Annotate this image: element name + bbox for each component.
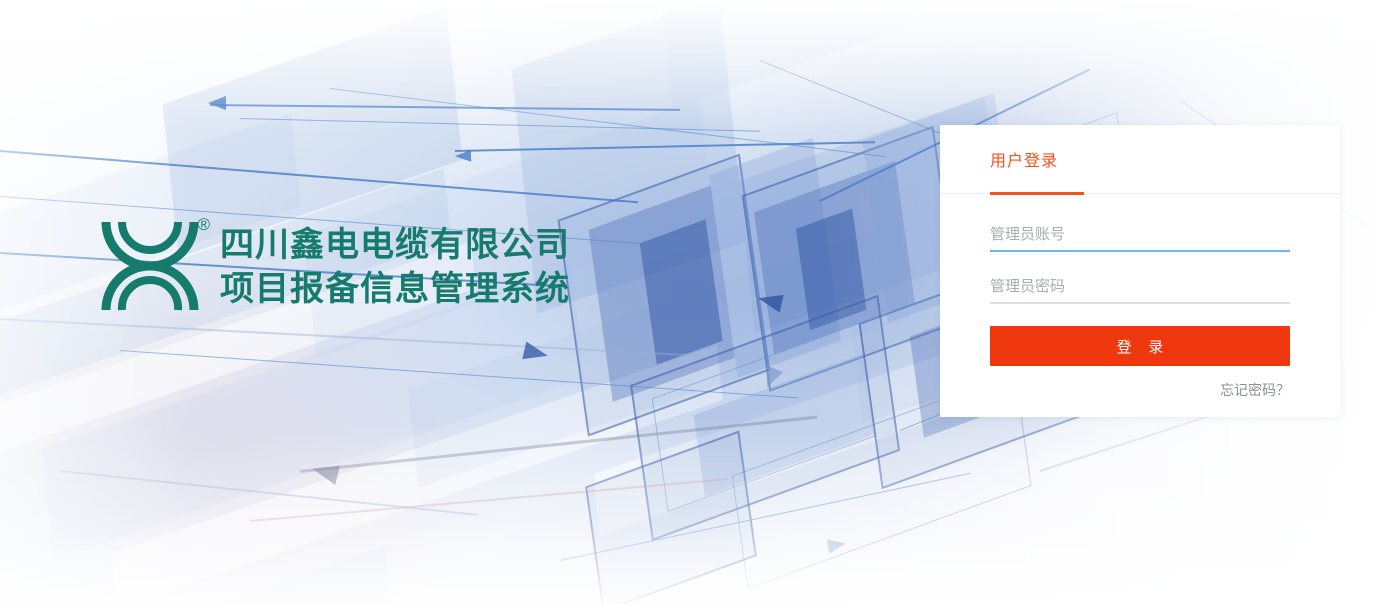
arrow-left-top xyxy=(208,96,226,110)
tab-active-underline xyxy=(990,192,1084,195)
brand-text-block: 四川鑫电电缆有限公司 项目报备信息管理系统 xyxy=(220,214,570,311)
login-card-footer: 忘记密码？ xyxy=(940,366,1340,400)
company-logo-icon: ® xyxy=(96,214,204,318)
password-field-wrapper xyxy=(990,274,1290,304)
arrow-left-bottom xyxy=(310,459,340,485)
username-input[interactable] xyxy=(990,222,1290,252)
arrow-right-mid xyxy=(522,342,549,365)
brand-block: ® 四川鑫电电缆有限公司 项目报备信息管理系统 xyxy=(96,214,570,318)
password-input[interactable] xyxy=(990,274,1290,304)
tab-user-login[interactable]: 用户登录 xyxy=(990,147,1058,171)
username-field-wrapper xyxy=(990,222,1290,252)
login-page: ® 四川鑫电电缆有限公司 项目报备信息管理系统 用户登录 登 录 忘记密码？ xyxy=(0,0,1375,604)
system-name: 项目报备信息管理系统 xyxy=(220,268,570,312)
password-underline xyxy=(990,302,1290,304)
arrow-left-upper xyxy=(455,150,471,163)
login-form: 登 录 xyxy=(940,194,1340,366)
registered-trademark-icon: ® xyxy=(197,216,210,233)
login-card: 用户登录 登 录 忘记密码？ xyxy=(940,125,1340,417)
forgot-password-link[interactable]: 忘记密码？ xyxy=(1220,382,1290,398)
arrow-left-cluster xyxy=(756,290,783,313)
arrow-right-lower xyxy=(827,537,847,554)
company-name: 四川鑫电电缆有限公司 xyxy=(220,224,570,268)
arrow-down-cluster xyxy=(759,365,783,390)
login-submit-button[interactable]: 登 录 xyxy=(990,326,1290,366)
login-card-header: 用户登录 xyxy=(940,125,1340,194)
username-underline xyxy=(990,250,1290,252)
